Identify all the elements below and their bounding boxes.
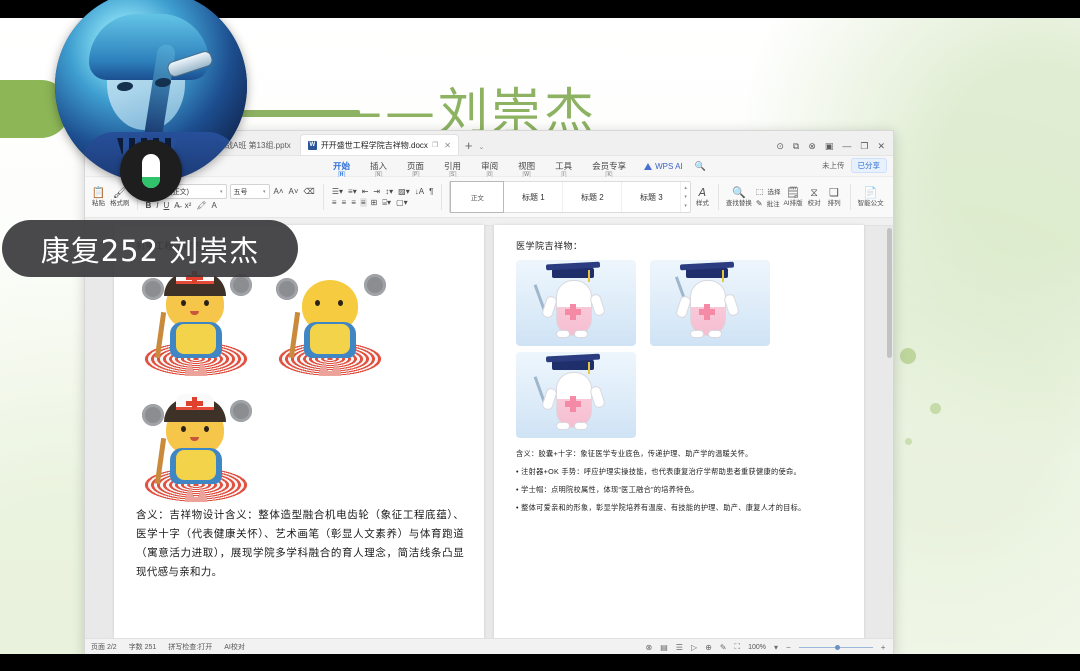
- divider: [718, 184, 719, 210]
- right-page-bullet-2: • 学士帽：点明院校属性，体现“医工融合”的培养特色。: [516, 482, 844, 497]
- spellcheck-status[interactable]: 拼写检查:打开: [168, 642, 212, 652]
- word-count[interactable]: 字数 251: [129, 642, 157, 652]
- decrease-font-icon[interactable]: A˅: [288, 187, 300, 196]
- ai-layout-label: AI排版: [783, 200, 802, 208]
- ribbon-tab-reference[interactable]: 引用 S: [434, 160, 471, 172]
- underline-button[interactable]: U: [163, 201, 171, 210]
- styles-scroll[interactable]: ▴▾▾: [681, 185, 690, 209]
- show-marks-icon[interactable]: ¶: [428, 187, 434, 196]
- fit-page-icon[interactable]: ⛶: [735, 642, 741, 652]
- line-spacing-icon[interactable]: ↕▾: [384, 187, 394, 196]
- ribbon-tab-insert[interactable]: 插入 N: [360, 160, 397, 172]
- mascot-figure-medical: [136, 386, 256, 506]
- paste-button[interactable]: 📋 粘贴: [90, 187, 107, 208]
- styles-gallery[interactable]: 正文 标题 1 标题 2 标题 3 ▴▾▾: [449, 181, 691, 213]
- arrange-label: 排列: [828, 200, 841, 208]
- right-page-heading: 医学院吉祥物：: [516, 239, 844, 252]
- pill-mascot-c: [516, 352, 636, 438]
- ribbon-tab-label: 工具: [555, 161, 572, 171]
- document-canvas[interactable]: 机电工程学院吉祥物：: [85, 218, 893, 642]
- ai-layout-button[interactable]: 🗒 AI排版: [783, 187, 802, 208]
- vertical-scrollbar[interactable]: [887, 228, 892, 358]
- increase-font-icon[interactable]: A˄: [273, 187, 285, 196]
- zoom-slider[interactable]: [799, 647, 873, 648]
- zoom-out-button[interactable]: −: [786, 643, 791, 652]
- font-size-input[interactable]: 五号 ▾: [230, 184, 270, 199]
- ai-layout-icon: 🗒: [786, 187, 800, 199]
- editing-group: 🔍 查找替换 ⬚ 选择 ✎ 批注 🗒 AI排版: [721, 177, 848, 217]
- ribbon-tab-label: 审阅: [481, 161, 498, 171]
- help-icon[interactable]: ⊗: [808, 142, 816, 151]
- ribbon-tab-label: 页面: [407, 161, 424, 171]
- document-page-right[interactable]: 医学院吉祥物：: [494, 225, 864, 642]
- pill-mascot-row-2: [516, 352, 844, 438]
- borders-icon[interactable]: ▢▾: [395, 198, 409, 207]
- ai-proofread-status[interactable]: AI校对: [224, 642, 245, 652]
- smart-doc-button[interactable]: 📄 智能公文: [858, 187, 884, 208]
- style-panel-button[interactable]: 𝘈 样式: [694, 187, 711, 208]
- paragraph-group: ☰▾ ≡▾ ⇤ ⇥ ↕▾ ▨▾ ↓A ¶ ≡ ≡ ≡ ≡ ⊞: [326, 177, 440, 217]
- right-page-bullet-1: • 注射器+OK 手势：呼应护理实操技能，也代表康复治疗学帮助患者重获健康的使命…: [516, 464, 844, 479]
- font-color-button[interactable]: A: [210, 201, 217, 210]
- annotate-label: 批注: [767, 198, 780, 208]
- wps-ai-button[interactable]: WPS AI: [644, 162, 683, 171]
- window-controls: ⊙ ⧉ ⊗ ▣ — ❐ ✕: [776, 142, 893, 155]
- history-icon[interactable]: ⊙: [776, 142, 784, 151]
- document-tab-title: 开开盛世工程学院吉祥物.docx: [321, 140, 428, 151]
- account-icon[interactable]: ▣: [825, 142, 834, 151]
- select-button[interactable]: ⬚ 选择: [755, 186, 781, 196]
- divider: [441, 184, 442, 210]
- zoom-level[interactable]: 100%: [748, 644, 766, 651]
- page-indicator[interactable]: 页面 2/2: [91, 642, 117, 652]
- letterbox-bottom: [0, 654, 1080, 671]
- wps-ai-label: WPS AI: [655, 162, 683, 171]
- ribbon-tab-page[interactable]: 页面 P: [397, 160, 434, 172]
- annotate-icon: ✎: [755, 199, 764, 208]
- bold-button[interactable]: B: [145, 201, 153, 210]
- reading-view-icon[interactable]: ▷: [691, 643, 697, 652]
- style-heading-2[interactable]: 标题 2: [563, 182, 622, 212]
- arrange-icon: ❏: [829, 187, 839, 199]
- slide-dot-decoration: [905, 438, 912, 445]
- restore-tab-icon[interactable]: ❐: [432, 141, 438, 149]
- share-button[interactable]: 已分享: [851, 158, 888, 173]
- italic-button[interactable]: I: [155, 201, 159, 210]
- ribbon-tab-member[interactable]: 会员专享 K: [582, 160, 636, 172]
- document-tab-docx[interactable]: W 开开盛世工程学院吉祥物.docx ❐ ✕: [300, 134, 459, 155]
- new-tab-button[interactable]: +: [461, 138, 477, 155]
- minimize-button[interactable]: —: [842, 142, 851, 151]
- mascot-image-row: [136, 260, 464, 380]
- close-window-button[interactable]: ✕: [877, 142, 885, 151]
- edit-mode-icon[interactable]: ✎: [720, 643, 727, 652]
- mascot-image-row-2: [136, 386, 464, 506]
- sort-icon[interactable]: ↓A: [414, 187, 425, 196]
- right-page-intro: 含义：胶囊+十字：象征医学专业底色，传递护理、助产学的温暖关怀。: [516, 446, 844, 461]
- screen-share-stage: ——刘崇杰 P 项目实战A班 第13组.pptx W 开开盛世工程学院吉祥物.d…: [0, 0, 1080, 671]
- ribbon-tab-home[interactable]: 开始 H: [323, 160, 360, 172]
- superscript-button[interactable]: x²: [184, 201, 193, 210]
- cloud-share-area: 未上传 已分享: [822, 158, 887, 173]
- style-heading-3[interactable]: 标题 3: [622, 182, 681, 212]
- page-view-icon[interactable]: ▤: [660, 643, 668, 652]
- proofread-icon: ⧖: [810, 187, 818, 199]
- find-replace-button[interactable]: 🔍 查找替换: [726, 187, 752, 208]
- increase-indent-icon[interactable]: ⇥: [372, 187, 381, 196]
- fullscreen-icon[interactable]: ⛶: [893, 642, 894, 652]
- chevron-down-icon: ▾: [220, 189, 223, 195]
- chevron-down-icon[interactable]: ▾: [774, 643, 778, 652]
- pill-mascot-b: [650, 260, 770, 346]
- divider: [323, 184, 324, 210]
- paste-icon: 📋: [92, 187, 106, 199]
- align-left-icon[interactable]: ≡: [331, 198, 338, 207]
- align-justify-icon[interactable]: ≡: [360, 198, 367, 207]
- select-label: 选择: [767, 186, 780, 196]
- style-heading-1[interactable]: 标题 1: [504, 182, 563, 212]
- ribbon-tab-label: 插入: [370, 161, 387, 171]
- ribbon-tab-tools[interactable]: 工具 I: [545, 160, 582, 172]
- divider: [850, 184, 851, 210]
- microphone-icon: [120, 140, 182, 202]
- style-normal[interactable]: 正文: [450, 181, 504, 213]
- chevron-down-icon[interactable]: ⌄: [479, 143, 485, 155]
- outline-view-icon[interactable]: ☰: [676, 643, 683, 652]
- page-container: 机电工程学院吉祥物：: [85, 225, 893, 642]
- document-page-left[interactable]: 机电工程学院吉祥物：: [114, 225, 484, 642]
- arrange-button[interactable]: ❏ 排列: [826, 187, 843, 208]
- find-replace-label: 查找替换: [726, 200, 752, 208]
- chevron-down-icon: ▾: [263, 189, 266, 195]
- backup-icon[interactable]: ⧉: [793, 142, 799, 151]
- ribbon-toolbar: 📋 粘贴 🖌 格式刷 Calibri (正文) ▾: [85, 177, 893, 218]
- ribbon-tab-label: 视图: [518, 161, 535, 171]
- maximize-button[interactable]: ❐: [860, 142, 868, 151]
- smart-doc-group: 📄 智能公文: [853, 177, 889, 217]
- paste-label: 粘贴: [92, 200, 105, 208]
- word-icon: W: [308, 141, 317, 150]
- focus-mode-icon[interactable]: ⊗: [646, 643, 653, 652]
- decrease-indent-icon[interactable]: ⇤: [361, 187, 370, 196]
- format-painter-label: 格式刷: [110, 200, 130, 208]
- wps-office-window[interactable]: P 项目实战A班 第13组.pptx W 开开盛世工程学院吉祥物.docx ❐ …: [84, 130, 894, 656]
- clear-format-icon[interactable]: ⌫: [303, 187, 316, 196]
- align-right-icon[interactable]: ≡: [350, 198, 357, 207]
- mascot-figure-engineering: [136, 260, 256, 380]
- zoom-slider-handle[interactable]: [835, 645, 840, 650]
- styles-group: 正文 标题 1 标题 2 标题 3 ▴▾▾ 𝘈 样式: [444, 177, 716, 217]
- smart-doc-icon: 📄: [864, 187, 878, 199]
- pill-mascot-a: [516, 260, 636, 346]
- pill-mascot-row: [516, 260, 844, 346]
- participant-name-label: 康复252 刘崇杰: [41, 228, 260, 270]
- style-panel-icon: 𝘈: [699, 187, 707, 199]
- left-page-paragraph: 含义：吉祥物设计含义：整体造型融合机电齿轮（象征工程底蕴）、医学十字（代表健康关…: [136, 506, 464, 582]
- right-page-bullet-3: • 整体可爱亲和的形象，彰显学院培养有温度、有技能的护理、助产、康复人才的目标。: [516, 500, 844, 515]
- mascot-figure-yellow: [270, 260, 390, 380]
- bullet-list-icon[interactable]: ☰▾: [331, 187, 344, 196]
- proofread-label: 校对: [808, 200, 821, 208]
- select-icon: ⬚: [755, 187, 765, 196]
- style-panel-label: 样式: [696, 200, 709, 208]
- ribbon-tab-label: 会员专享: [592, 161, 626, 171]
- wps-ai-icon: [644, 163, 652, 170]
- shading-icon[interactable]: ▨▾: [397, 187, 411, 196]
- highlight-button[interactable]: 🖍: [195, 201, 207, 210]
- distribute-icon[interactable]: ⊞: [370, 198, 379, 207]
- web-view-icon[interactable]: ⊕: [705, 643, 712, 652]
- slide-dot-decoration: [900, 348, 916, 364]
- annotate-button[interactable]: ✎ 批注: [755, 198, 781, 208]
- ribbon-tab-label: 开始: [333, 161, 350, 171]
- ribbon-tab-label: 引用: [444, 161, 461, 171]
- align-center-icon[interactable]: ≡: [341, 198, 348, 207]
- font-size-value: 五号: [234, 187, 248, 197]
- cloud-status-label[interactable]: 未上传: [822, 160, 845, 171]
- status-bar: 页面 2/2 字数 251 拼写检查:打开 AI校对 ⊗ ▤ ☰ ▷ ⊕ ✎ ⛶…: [85, 638, 894, 655]
- slide-dot-decoration: [930, 403, 941, 414]
- zoom-in-button[interactable]: +: [881, 643, 886, 652]
- search-icon[interactable]: 🔍: [695, 161, 706, 172]
- proofread-button[interactable]: ⧖ 校对: [806, 187, 823, 208]
- ribbon-tab-review[interactable]: 审阅 0: [471, 160, 508, 172]
- status-bar-right: ⊗ ▤ ☰ ▷ ⊕ ✎ ⛶ 100% ▾ − + ⛶: [646, 642, 894, 652]
- search-icon: 🔍: [732, 187, 746, 199]
- participant-name-badge: 康复252 刘崇杰: [2, 220, 298, 277]
- paragraph-layout-icon[interactable]: ⌸▾: [381, 198, 392, 208]
- strikethrough-button[interactable]: A̶: [173, 201, 180, 210]
- numbered-list-icon[interactable]: ≡▾: [347, 187, 358, 196]
- smart-doc-label: 智能公文: [858, 200, 884, 208]
- close-tab-icon[interactable]: ✕: [444, 141, 451, 150]
- ribbon-tab-view[interactable]: 视图 W: [508, 160, 545, 172]
